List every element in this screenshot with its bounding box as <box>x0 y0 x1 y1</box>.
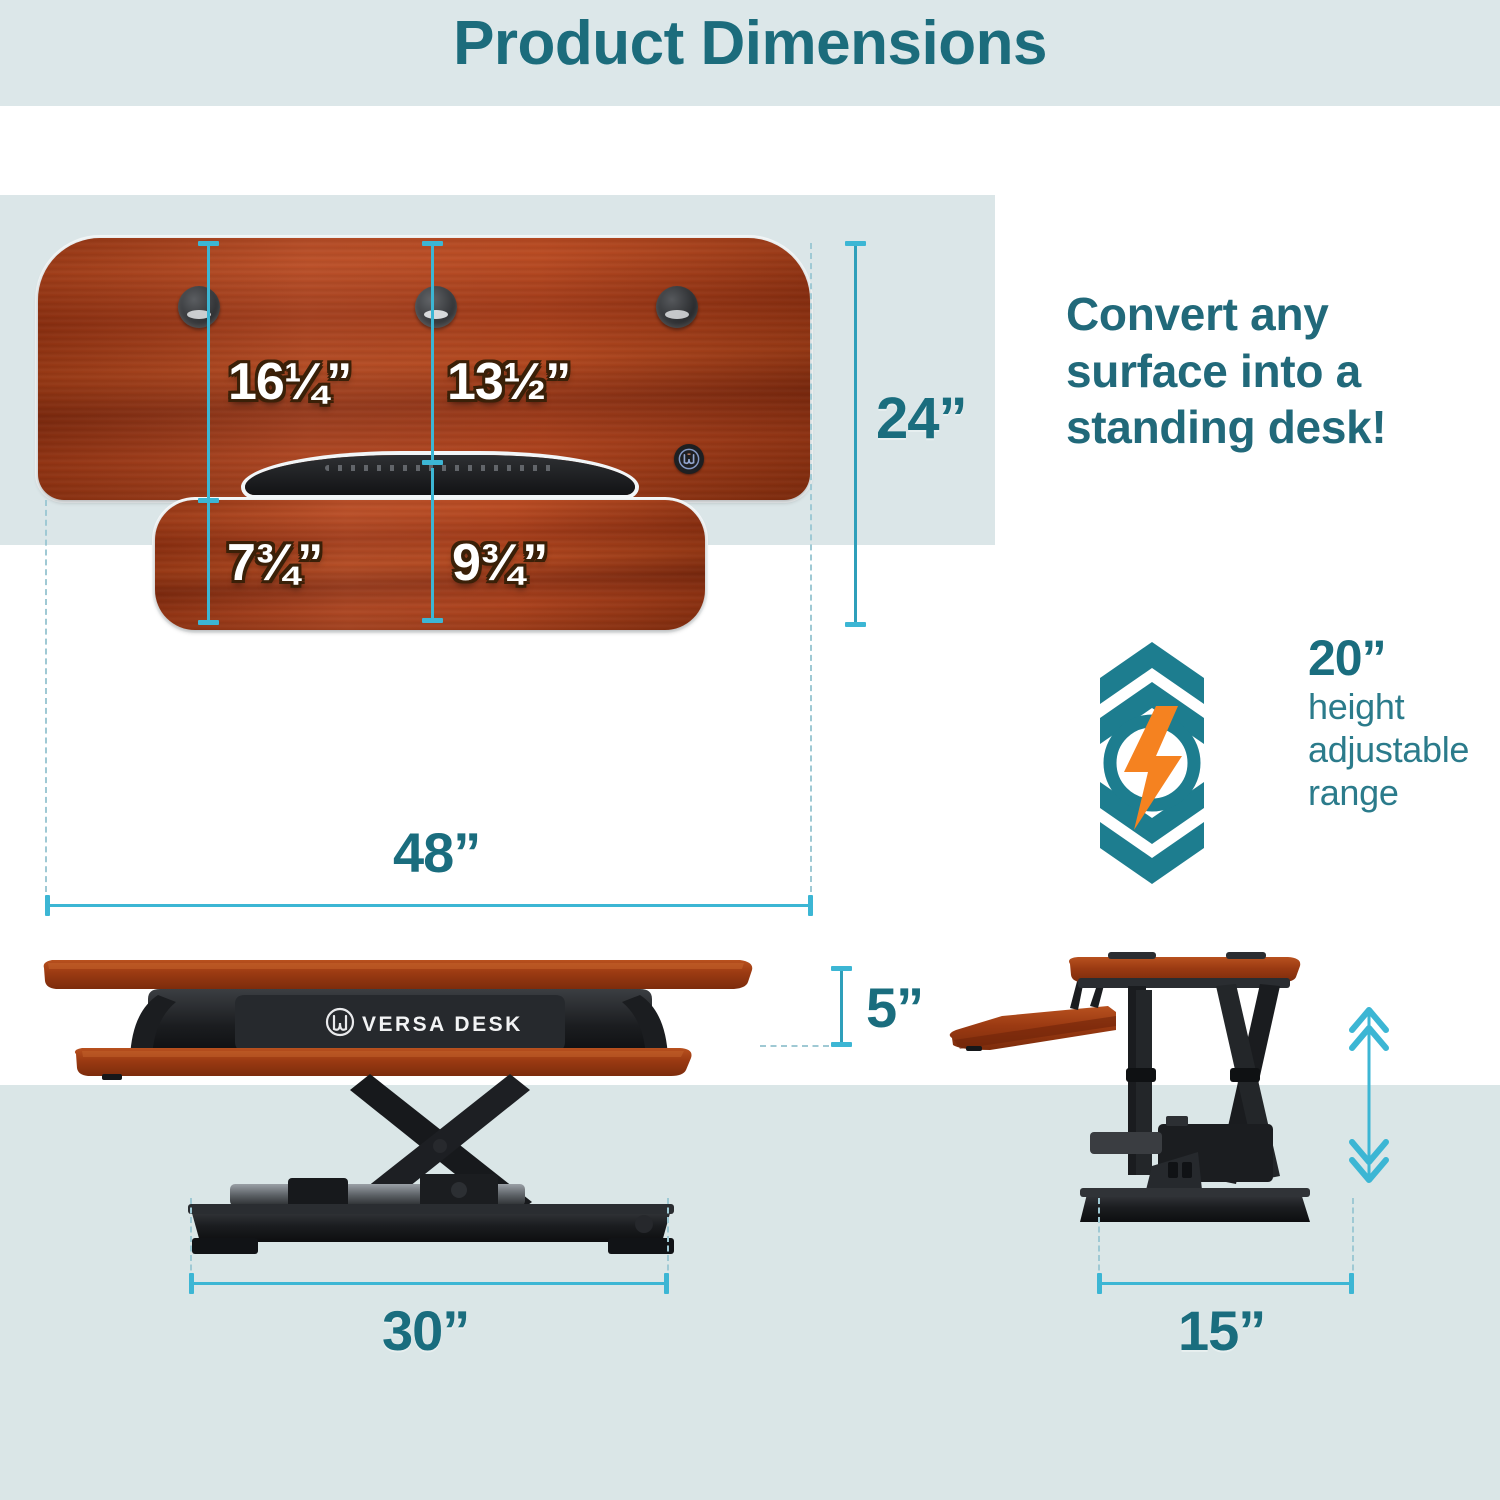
tagline-text: Convert any surface into a standing desk… <box>1066 286 1466 456</box>
dimcap-base-depth-right <box>1349 1273 1354 1294</box>
dimcap-collapsed-top <box>831 966 852 971</box>
label-depth-right-top-text: 13½” <box>447 353 570 411</box>
upper-desktop-slab <box>44 960 753 989</box>
dimline-9-75 <box>431 468 434 623</box>
dimcap-16-25-top <box>198 241 219 246</box>
label-base-depth: 15” <box>1178 1298 1265 1363</box>
dimline-overall-width <box>47 904 812 907</box>
dimline-16-25 <box>207 243 210 503</box>
grommet-hole-left <box>178 286 220 328</box>
dimcap-collapsed-bottom <box>831 1042 852 1047</box>
dimline-overall-depth <box>854 243 857 625</box>
dimcap-depth-top <box>845 241 866 246</box>
label-tray-depth-left-text: 7¾” <box>227 534 322 592</box>
grommet-hole-right <box>656 286 698 328</box>
dimline-base-width <box>192 1282 668 1285</box>
infographic-canvas: Product Dimensions Convert any surface i… <box>0 0 1500 1500</box>
label-tray-depth-right: 9¾” <box>452 533 547 593</box>
brand-name-text: VERSA DESK <box>362 1013 523 1036</box>
base-assembly <box>188 1174 674 1254</box>
dimcap-width-right <box>808 895 813 916</box>
desktop-slab-end <box>1069 952 1300 988</box>
height-range-arrow <box>1340 1002 1398 1188</box>
dimcap-9-75-bottom <box>422 618 443 623</box>
extline-width-right <box>810 243 812 892</box>
grommet-hole-center <box>415 286 457 328</box>
label-depth-left-top-text: 16¼” <box>228 353 351 411</box>
height-badge-line3: range <box>1308 771 1500 814</box>
dimcap-base-width-right <box>664 1273 669 1294</box>
dimcap-13-5-bottom <box>422 460 443 465</box>
height-badge-line1: height <box>1308 685 1500 728</box>
page-title: Product Dimensions <box>0 8 1500 79</box>
height-badge-text: 20” height adjustable range <box>1308 632 1500 814</box>
vent-slots-icon <box>325 465 555 471</box>
dimcap-depth-bottom <box>845 622 866 627</box>
dimcap-13-5-top <box>422 241 443 246</box>
label-tray-depth-right-text: 9¾” <box>452 534 547 592</box>
extline-base-width-right <box>667 1198 669 1280</box>
end-view-raised <box>930 950 1350 1260</box>
height-badge-line2: adjustable <box>1308 728 1500 771</box>
dimline-collapsed-height <box>840 970 843 1046</box>
base-plate-end <box>1080 1188 1310 1222</box>
label-base-width: 30” <box>382 1298 469 1363</box>
height-badge-value: 20” <box>1308 632 1500 685</box>
lift-housing-side: VERSA DESK <box>130 989 668 1058</box>
dimcap-width-left <box>45 895 50 916</box>
dimcap-base-depth-left <box>1097 1273 1102 1294</box>
extline-base-depth-right <box>1352 1198 1354 1280</box>
height-range-icon-group <box>1090 638 1290 888</box>
extline-width-left <box>45 500 47 892</box>
label-overall-width: 48” <box>393 820 480 885</box>
label-depth-left-top: 16¼” <box>228 352 351 412</box>
dimline-7-75 <box>207 503 210 625</box>
dimline-base-depth <box>1100 1282 1353 1285</box>
label-tray-depth-left: 7¾” <box>227 533 322 593</box>
keyboard-tray-slab-side <box>75 1048 692 1080</box>
height-adjustable-badge: 20” height adjustable range <box>1090 638 1480 888</box>
label-collapsed-height: 5” <box>866 975 923 1040</box>
dimline-13-5 <box>431 243 434 465</box>
label-overall-depth: 24” <box>876 385 967 452</box>
dimcap-7-75-bottom <box>198 620 219 625</box>
side-view-collapsed: VERSA DESK <box>40 950 760 1260</box>
dimcap-base-width-left <box>189 1273 194 1294</box>
label-depth-right-top: 13½” <box>447 352 570 412</box>
versa-desk-logo-badge-icon <box>674 444 704 474</box>
motor-housing <box>1090 1116 1273 1190</box>
extline-base-depth-left <box>1098 1198 1100 1280</box>
extline-base-width-left <box>190 1198 192 1280</box>
